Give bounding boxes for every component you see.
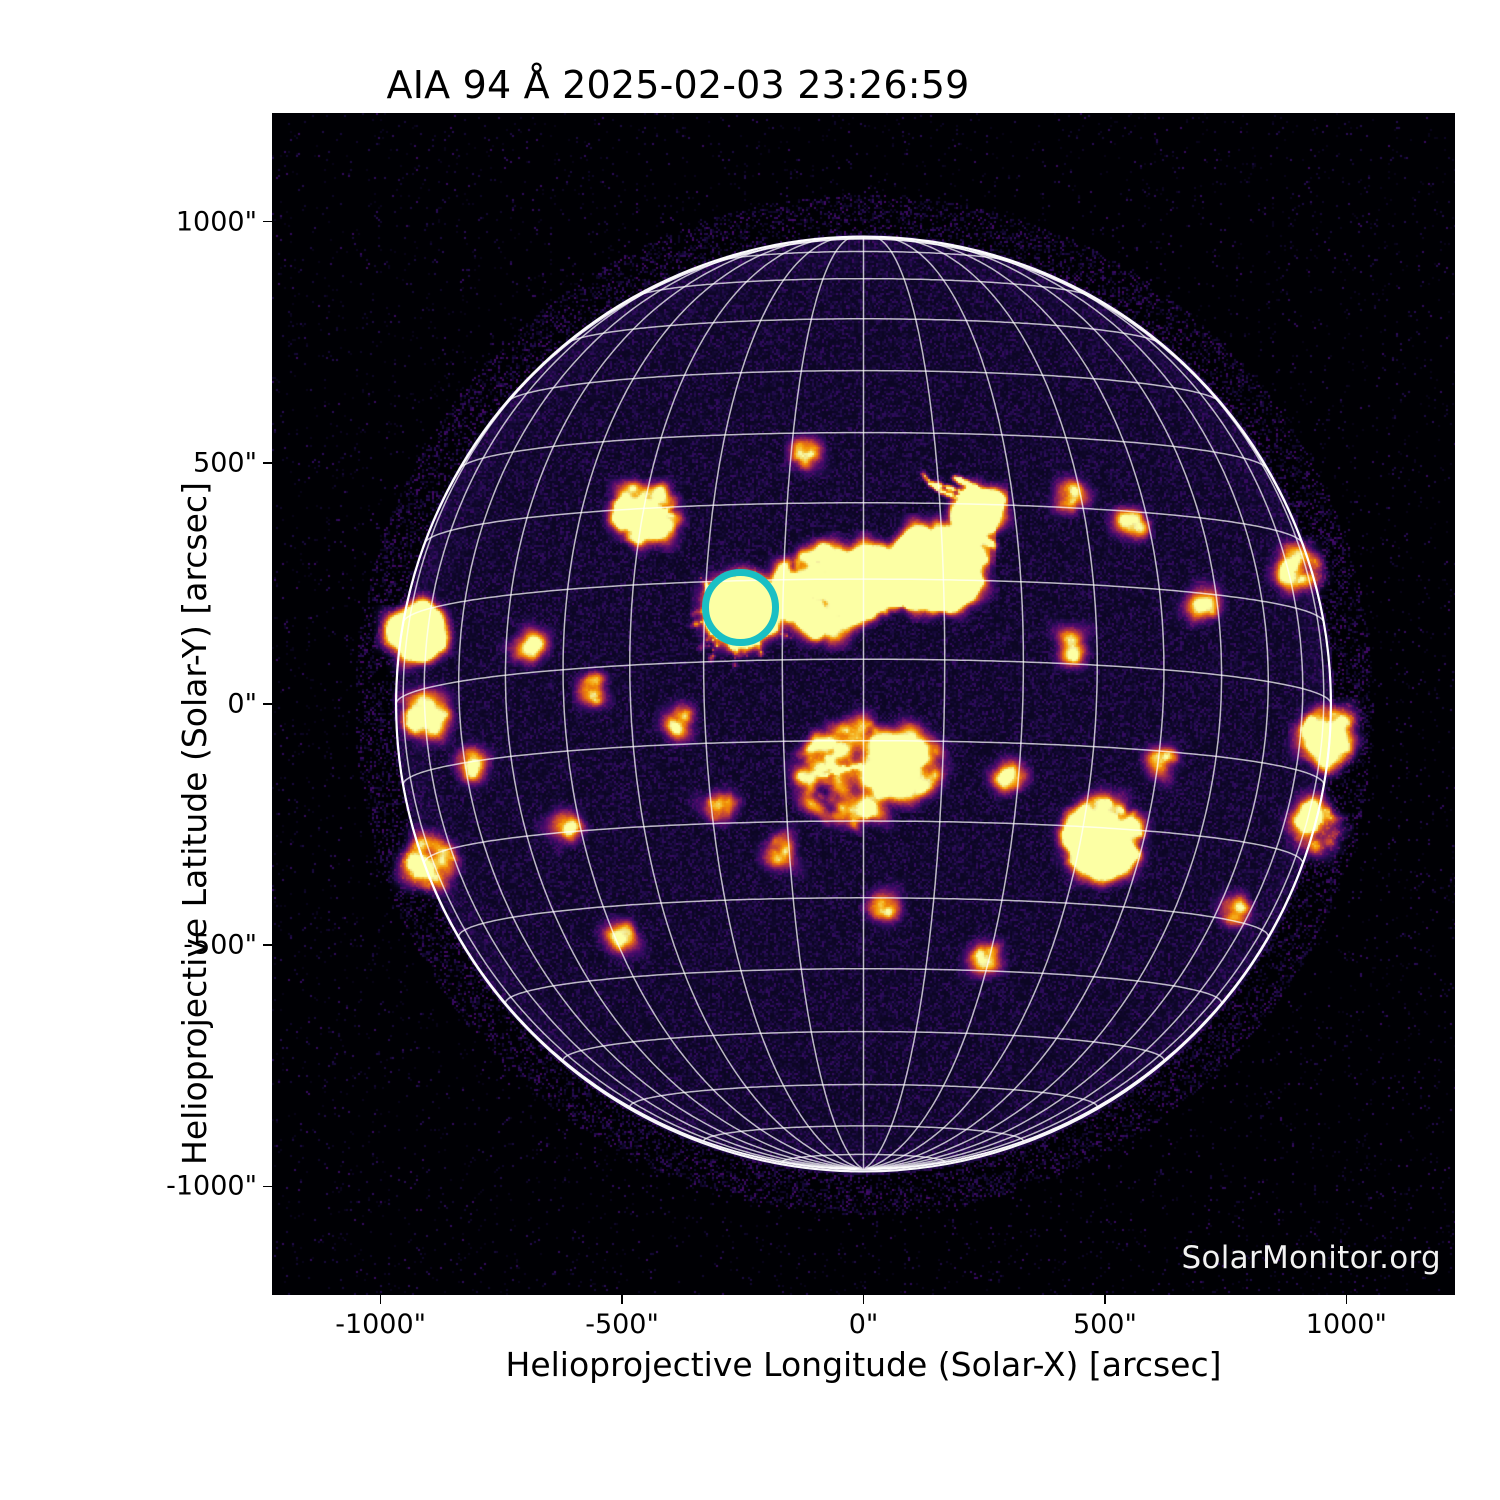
grid-line (424, 253, 856, 1169)
x-tick-label: 500" (1073, 1309, 1137, 1340)
x-tick-label: -1000" (335, 1309, 426, 1340)
x-tick-mark (1346, 1295, 1348, 1304)
grid-line (871, 243, 1269, 1169)
y-tick-mark (263, 944, 272, 946)
y-tick-mark (263, 703, 272, 705)
y-tick-label: 1000" (82, 206, 257, 237)
y-tick-label: 500" (82, 447, 257, 478)
image-plot-area: SolarMonitor.org (272, 113, 1455, 1295)
solar-image-figure: AIA 94 Å 2025-02-03 23:26:59 SolarMonito… (0, 0, 1500, 1500)
x-axis-label: Helioprojective Longitude (Solar-X) [arc… (272, 1345, 1455, 1384)
heliographic-grid (272, 113, 1455, 1295)
y-tick-mark (263, 221, 272, 223)
grid-line (782, 237, 862, 1169)
grid-line (865, 237, 945, 1169)
y-tick-label: -1000" (82, 1171, 257, 1202)
watermark: SolarMonitor.org (1182, 1240, 1442, 1276)
figure-title-text: AIA 94 Å 2025-02-03 23:26:59 (387, 63, 970, 107)
grid-line (872, 704, 1331, 1169)
grid-line (871, 253, 1302, 1169)
x-tick-mark (621, 1295, 623, 1304)
x-tick-label: 0" (849, 1309, 879, 1340)
x-tick-label: 1000" (1306, 1309, 1387, 1340)
grid-line (459, 243, 857, 1169)
x-tick-mark (1104, 1295, 1106, 1304)
y-axis-label: Helioprojective Latitude (Solar-Y) [arcs… (175, 482, 214, 1165)
grid-line (870, 240, 1222, 1169)
x-tick-mark (863, 1295, 865, 1304)
x-tick-label: -500" (585, 1309, 659, 1340)
grid-line (505, 240, 857, 1169)
y-tick-label: -500" (82, 930, 257, 961)
y-tick-mark (263, 1186, 272, 1188)
x-tick-mark (380, 1295, 382, 1304)
y-tick-mark (263, 462, 272, 464)
active-region-annotation-circle[interactable] (702, 569, 778, 645)
y-tick-label: 0" (82, 689, 257, 720)
figure-title: AIA 94 Å 2025-02-03 23:26:59 (0, 63, 1500, 107)
grid-line (396, 704, 855, 1169)
